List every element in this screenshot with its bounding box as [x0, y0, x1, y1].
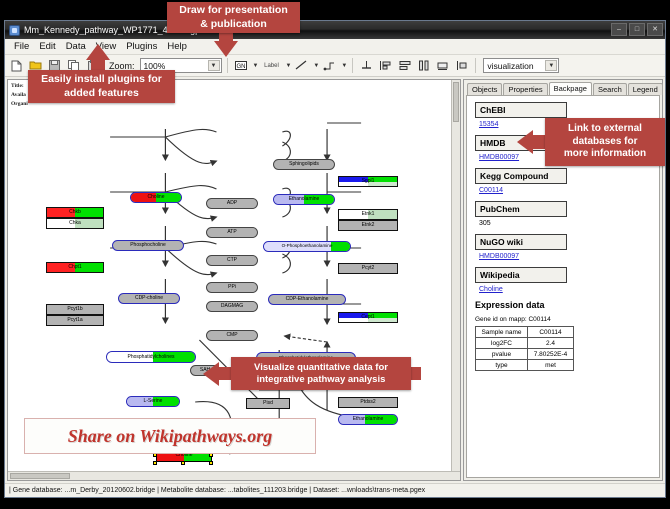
node-pisd[interactable]: Pisd — [246, 398, 290, 409]
db-value-pubchem: 305 — [479, 220, 651, 227]
scrollbar-thumb[interactable] — [453, 82, 459, 122]
canvas-label-organism: Organi — [11, 101, 28, 107]
node-pcyt1b[interactable]: Pcyt1b — [46, 304, 104, 315]
callout-draw-arrow-down-icon — [214, 41, 238, 57]
expr-value: met — [528, 360, 574, 371]
line-tool-icon[interactable] — [293, 57, 310, 74]
zoom-label: Zoom: — [109, 61, 135, 71]
side-panel-tabs: Objects Properties Backpage Search Legen… — [464, 80, 662, 95]
node-sphingolipids[interactable]: Sphingolipids — [273, 159, 335, 170]
node-label: PPi — [228, 285, 236, 290]
node-chka[interactable]: Chka — [46, 218, 104, 229]
node-label: ATP — [227, 230, 236, 235]
canvas-vertical-scrollbar[interactable] — [451, 80, 460, 480]
expr-key: type — [476, 360, 528, 371]
node-label: Ethanolamine — [353, 417, 384, 422]
node-sgpl1[interactable]: Sgpl1 — [338, 176, 398, 187]
node-ptdss2[interactable]: Ptdss2 — [338, 397, 398, 408]
expr-key: log2FC — [476, 338, 528, 349]
toolbar-separator-2 — [352, 58, 353, 73]
node-ppi[interactable]: PPi — [206, 282, 258, 293]
visualization-combobox[interactable]: visualization ▼ — [483, 58, 559, 73]
db-header-chebi: ChEBI — [475, 102, 567, 118]
node-label: Sgpl1 — [362, 179, 375, 184]
node-ethanolamine-bottom[interactable]: Ethanolamine — [338, 414, 398, 425]
node-label: Ptdss2 — [360, 400, 375, 405]
canvas-label-title: Title: — [11, 83, 24, 89]
anchor-tool-icon[interactable] — [358, 57, 375, 74]
expr-value: 2.4 — [528, 338, 574, 349]
node-dagmag[interactable]: DAGMAG — [206, 301, 258, 312]
node-label: Chka — [69, 221, 81, 226]
node-label: Pisd — [263, 401, 273, 406]
new-file-icon[interactable] — [8, 57, 25, 74]
order-tool-icon[interactable] — [453, 57, 470, 74]
node-label: L-Serine — [144, 399, 163, 404]
datanode-tool-icon[interactable]: GN — [233, 57, 250, 74]
table-row: type met — [476, 360, 574, 371]
expr-key: pvalue — [476, 349, 528, 360]
node-label: Pcyt1a — [67, 318, 82, 323]
db-link-nugo-wiki[interactable]: HMDB00097 — [479, 253, 651, 260]
expr-key: Sample name — [476, 327, 528, 338]
node-cept1[interactable]: Cept1 — [338, 312, 398, 323]
expression-data-heading: Expression data — [475, 300, 651, 310]
node-choline-top[interactable]: Choline — [130, 192, 182, 203]
callout-link: Link to external databases for more info… — [545, 118, 665, 166]
svg-text:GN: GN — [237, 64, 246, 70]
status-bar: | Gene database: ...m_Derby_20120602.bri… — [5, 483, 665, 497]
node-ctp[interactable]: CTP — [206, 255, 258, 266]
db-link-kegg-compound[interactable]: C00114 — [479, 187, 651, 194]
node-ethanolamine-top[interactable]: Ethanolamine — [273, 194, 335, 205]
node-pcyt2[interactable]: Pcyt2 — [338, 263, 398, 274]
tab-search[interactable]: Search — [593, 83, 627, 95]
title-bar: Mm_Kennedy_pathway_WP1771_45176.gpml – □… — [5, 21, 665, 39]
callout-plugins-arrow-up-icon — [86, 44, 110, 60]
node-cmp[interactable]: CMP — [206, 330, 258, 341]
table-row: log2FC 2.4 — [476, 338, 574, 349]
toolbar-separator-3 — [475, 58, 476, 73]
node-phosphocholine[interactable]: Phosphocholine — [112, 240, 184, 251]
tab-properties[interactable]: Properties — [503, 83, 547, 95]
menu-item-edit[interactable]: Edit — [34, 41, 60, 52]
node-label: CMP — [226, 333, 237, 338]
node-label: O-Phosphoethanolamine — [282, 244, 333, 249]
node-label: Phosphatidylcholines — [128, 355, 175, 360]
node-label: Phosphocholine — [130, 243, 166, 248]
node-label: Pcyt2 — [362, 266, 375, 271]
node-phosphatidylcholines[interactable]: Phosphatidylcholines — [106, 351, 196, 363]
table-row: Sample name C00114 — [476, 327, 574, 338]
label-tool-icon[interactable]: Label — [260, 57, 282, 74]
node-atp[interactable]: ATP — [206, 227, 258, 238]
callout-visualize: Visualize quantitative data for integrat… — [231, 357, 411, 390]
db-header-wikipedia: Wikipedia — [475, 267, 567, 283]
node-etnk1[interactable]: Etnk1 — [338, 209, 398, 220]
node-label: Chpt1 — [68, 265, 81, 270]
expression-gene-id: Gene id on mapp: C00114 — [475, 316, 651, 323]
maximize-button[interactable]: □ — [629, 23, 645, 36]
node-label: Cept1 — [361, 315, 374, 320]
node-label: Chkb — [69, 210, 81, 215]
callout-visualize-arrow-left-icon — [203, 362, 219, 386]
selection-handle-se[interactable] — [209, 461, 213, 465]
connector-dropdown-icon[interactable]: ▼ — [341, 63, 347, 69]
node-label: Etnk2 — [362, 223, 375, 228]
node-l-serine-left[interactable]: L-Serine — [126, 396, 180, 407]
menu-item-help[interactable]: Help — [162, 41, 192, 52]
node-label: Pcyt1b — [67, 307, 82, 312]
menu-item-plugins[interactable]: Plugins — [121, 41, 162, 52]
minimize-button[interactable]: – — [611, 23, 627, 36]
window-controls: – □ ✕ — [611, 23, 663, 36]
node-adp[interactable]: ADP — [206, 198, 258, 209]
expr-value: C00114 — [528, 327, 574, 338]
group-tool-icon[interactable] — [434, 57, 451, 74]
node-label: DAGMAG — [221, 304, 243, 309]
node-label: Etnk1 — [362, 212, 375, 217]
node-chkb[interactable]: Chkb — [46, 207, 104, 218]
node-label: Sphingolipids — [289, 162, 319, 167]
share-text: Share on Wikipathways.org — [68, 426, 273, 447]
node-label: Ethanolamine — [289, 197, 320, 202]
db-header-kegg-compound: Kegg Compound — [475, 168, 567, 184]
status-bar-text: | Gene database: ...m_Derby_20120602.bri… — [9, 487, 425, 494]
align-left-tool-icon[interactable] — [377, 57, 394, 74]
label-dropdown-icon[interactable]: ▼ — [285, 63, 291, 69]
expression-data-table: Sample name C00114 log2FC 2.4 pvalue 7.8… — [475, 326, 574, 371]
node-label: CTP — [227, 258, 237, 263]
line-dropdown-icon[interactable]: ▼ — [313, 63, 319, 69]
chevron-down-icon[interactable]: ▼ — [208, 60, 220, 71]
tab-backpage[interactable]: Backpage — [549, 82, 592, 95]
toolbar-separator — [227, 58, 228, 73]
node-o-phosphoethanolamine[interactable]: O-Phosphoethanolamine — [263, 241, 351, 252]
table-row: pvalue 7.80252E-4 — [476, 349, 574, 360]
tab-legend[interactable]: Legend — [628, 83, 663, 95]
align-cols-tool-icon[interactable] — [415, 57, 432, 74]
node-etnk2[interactable]: Etnk2 — [338, 220, 398, 231]
expr-value: 7.80252E-4 — [528, 349, 574, 360]
selection-handle-sw[interactable] — [153, 461, 157, 465]
canvas-horizontal-scrollbar[interactable] — [8, 471, 460, 480]
db-header-nugo-wiki: NuGO wiki — [475, 234, 567, 250]
node-cdp-choline[interactable]: CDP-choline — [118, 293, 180, 304]
canvas-label-available: Availa — [11, 92, 26, 98]
menu-item-file[interactable]: File — [9, 41, 34, 52]
node-label: CDP-choline — [135, 296, 163, 301]
node-cdp-ethanolamine[interactable]: CDP-Ethanolamine — [268, 294, 346, 305]
db-header-pubchem: PubChem — [475, 201, 567, 217]
node-label: Choline — [148, 195, 165, 200]
connector-tool-icon[interactable] — [321, 57, 338, 74]
node-label: CDP-Ethanolamine — [286, 297, 329, 302]
node-label: ADP — [227, 201, 237, 206]
visualization-chevron-down-icon[interactable]: ▼ — [545, 60, 557, 71]
selection-handle-s[interactable] — [181, 461, 185, 465]
zoom-value: 100% — [144, 61, 166, 71]
tab-objects[interactable]: Objects — [467, 83, 502, 95]
callout-draw: Draw for presentation & publication — [167, 2, 300, 33]
db-link-wikipedia[interactable]: Choline — [479, 286, 651, 293]
scrollbar-thumb[interactable] — [10, 473, 70, 479]
visualization-value: visualization — [487, 61, 533, 71]
callout-link-arrow-left-icon — [517, 130, 533, 154]
app-icon — [9, 25, 20, 36]
callout-share: Share on Wikipathways.org — [24, 418, 316, 454]
align-rows-tool-icon[interactable] — [396, 57, 413, 74]
datanode-dropdown-icon[interactable]: ▼ — [253, 63, 259, 69]
node-pcyt1a[interactable]: Pcyt1a — [46, 315, 104, 326]
screenshot-root: Mm_Kennedy_pathway_WP1771_45176.gpml – □… — [0, 0, 670, 509]
node-chpt1[interactable]: Chpt1 — [46, 262, 104, 273]
callout-plugins: Easily install plugins for added feature… — [28, 70, 175, 103]
close-button[interactable]: ✕ — [647, 23, 663, 36]
